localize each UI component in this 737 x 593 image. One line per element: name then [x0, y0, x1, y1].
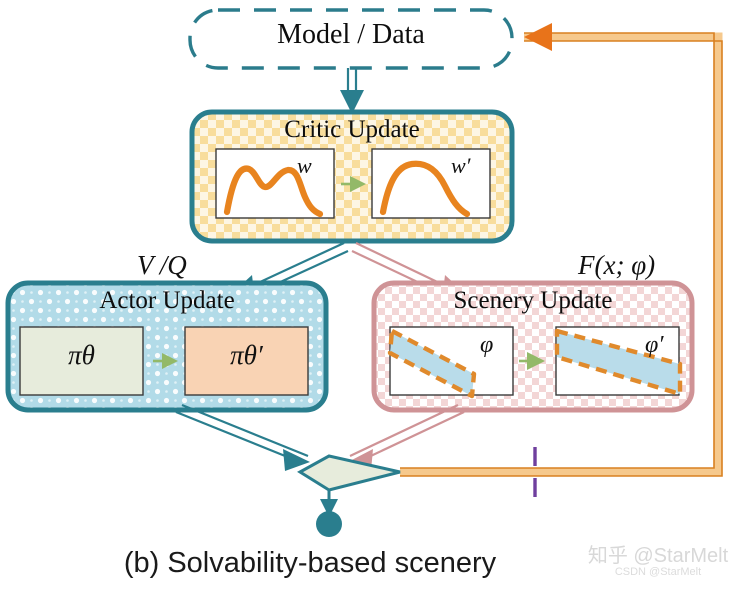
actor-panel-label-pi-theta-prime: πθ′: [185, 340, 308, 371]
node-label-scenery-update: Scenery Update: [374, 287, 692, 315]
watermark-main: 知乎 @StarMelt: [588, 545, 728, 567]
node-label-critic-update: Critic Update: [192, 116, 512, 144]
critic-panel-label-w-prime: w′: [451, 153, 471, 179]
node-terminal[interactable]: [316, 511, 342, 537]
scenery-panel-label-phi-prime: φ′: [645, 332, 664, 359]
watermark-sub: CSDN @StarMelt: [583, 567, 733, 579]
watermark: 知乎 @StarMelt CSDN @StarMelt: [583, 546, 733, 579]
figure-caption: (b) Solvability-based scenery: [0, 547, 620, 580]
node-label-actor-update: Actor Update: [8, 287, 326, 315]
edge-model-to-critic: [340, 68, 364, 114]
scenery-panel-label-phi: φ: [480, 332, 493, 359]
edge-scenery-to-decision: [348, 405, 464, 471]
edge-actor-to-decision: [176, 405, 310, 471]
edge-label-scenery-function: F(x; φ): [578, 250, 655, 281]
node-decision[interactable]: [300, 456, 400, 490]
edge-label-value-function: V /Q: [137, 250, 187, 281]
figure-canvas: Model / Data Critic Update w w′ V /Q F(x…: [0, 0, 737, 593]
actor-panel-label-pi-theta: πθ: [20, 340, 143, 371]
node-label-model-data: Model / Data: [190, 19, 512, 51]
critic-panel-label-w: w: [297, 153, 312, 179]
feedback-arrowhead: [524, 23, 552, 51]
